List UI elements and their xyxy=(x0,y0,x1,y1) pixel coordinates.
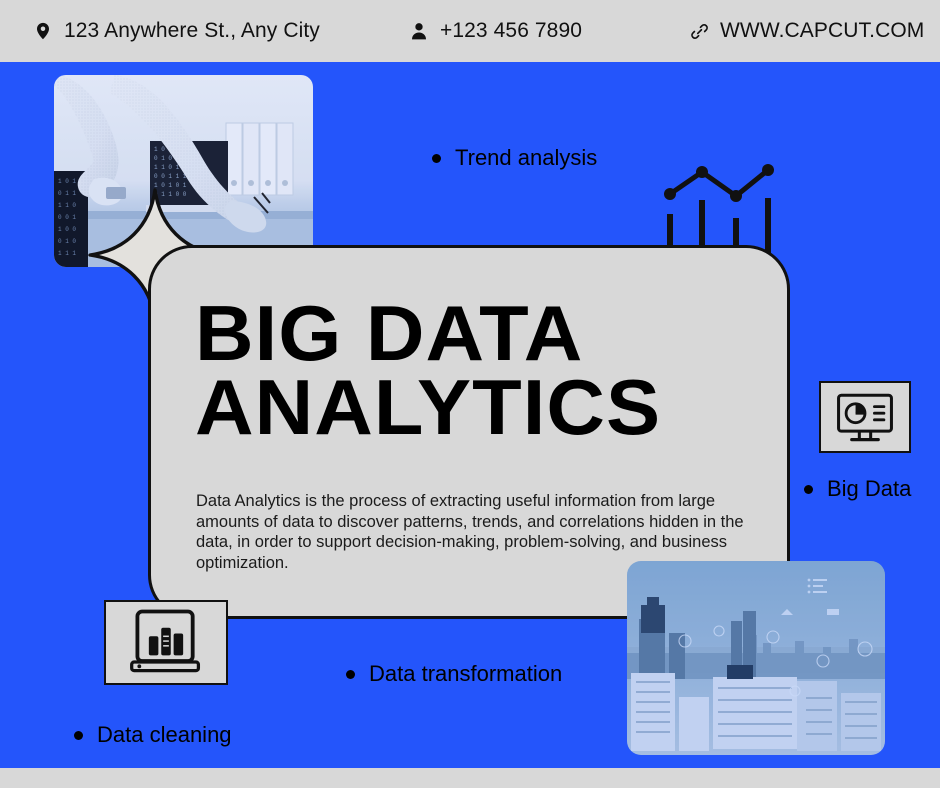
contact-website: WWW.CAPCUT.COM xyxy=(686,0,924,62)
contact-phone: +123 456 7890 xyxy=(406,0,582,62)
bullet-label: Data transformation xyxy=(369,661,562,687)
contact-phone-text: +123 456 7890 xyxy=(440,19,582,43)
bullet-dot-icon xyxy=(346,670,355,679)
link-icon xyxy=(686,18,712,44)
page-title-line-2: ANALYTICS xyxy=(195,370,777,444)
monitor-pie-chart-icon xyxy=(819,381,911,453)
bullet-dot-icon xyxy=(432,154,441,163)
contact-website-text: WWW.CAPCUT.COM xyxy=(720,19,924,43)
bullet-label: Data cleaning xyxy=(97,722,232,748)
bottom-accent-bar xyxy=(0,768,940,788)
page-title: BIG DATAANALYTICS xyxy=(195,296,777,444)
contact-bar: 123 Anywhere St., Any City +123 456 7890 xyxy=(0,0,940,62)
city-skyline-photo xyxy=(627,561,885,755)
contact-address: 123 Anywhere St., Any City xyxy=(30,0,320,62)
bullet-item-trend-analysis: Trend analysis xyxy=(432,145,597,171)
bullet-label: Big Data xyxy=(827,476,911,502)
poster-canvas: 123 Anywhere St., Any City +123 456 7890 xyxy=(0,0,940,788)
bullet-dot-icon xyxy=(804,485,813,494)
location-pin-icon xyxy=(30,18,56,44)
bullet-item-data-transformation: Data transformation xyxy=(346,661,562,687)
contact-address-text: 123 Anywhere St., Any City xyxy=(64,19,320,43)
bullet-item-big-data: Big Data xyxy=(804,476,911,502)
bullet-dot-icon xyxy=(74,731,83,740)
bullet-label: Trend analysis xyxy=(455,145,597,171)
person-icon xyxy=(406,18,432,44)
laptop-bar-chart-icon xyxy=(104,600,228,685)
bullet-item-data-cleaning: Data cleaning xyxy=(74,722,232,748)
